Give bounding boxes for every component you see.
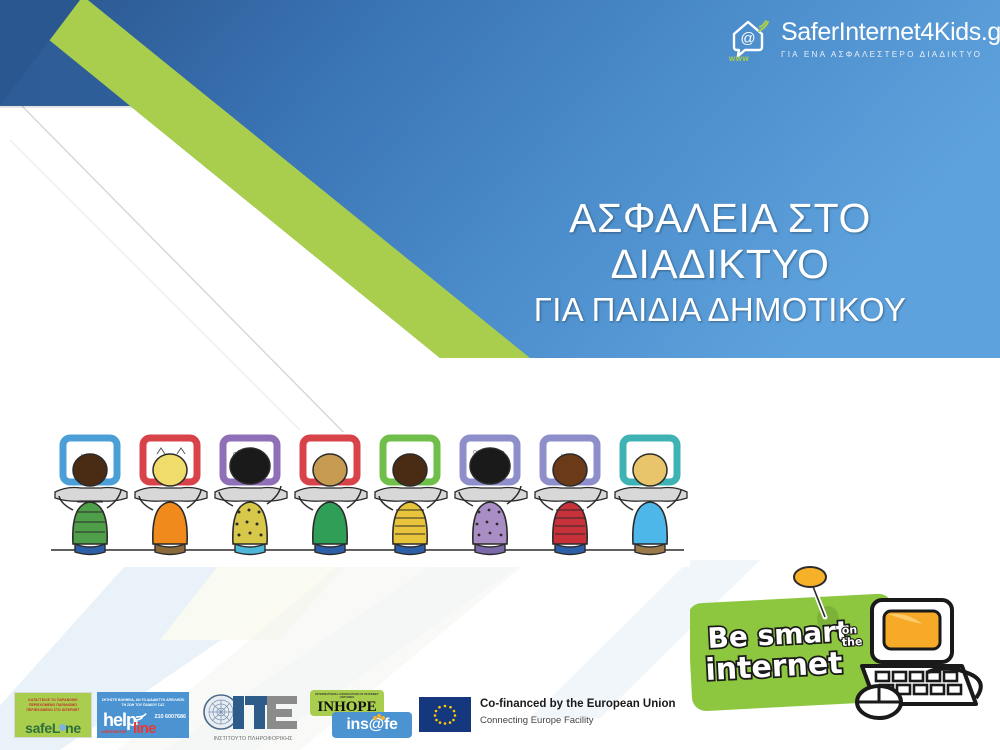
inhope-top-text: INTERNATIONAL ASSOCIATION OF INTERNET HO…	[310, 690, 384, 699]
brand-logo[interactable]: @ www SaferInternet4Kids.gr ΓΙΑ ΕΝΑ ΑΣΦΑ…	[727, 12, 985, 64]
safeline-word-a: safeL	[25, 720, 60, 736]
eu-flag-icon	[419, 697, 471, 732]
svg-text:the: the	[841, 635, 862, 649]
presentation-slide: @ www SaferInternet4Kids.gr ΓΙΑ ΕΝΑ ΑΣΦΑ…	[0, 0, 1000, 750]
insafe-logo[interactable]: ins@fe	[332, 712, 412, 738]
insafe-word-a: ins	[346, 716, 368, 734]
page-title: ΑΣΦΑΛΕΙΑ ΣΤΟ ΔΙΑΔΙΚΤΥΟ	[455, 196, 985, 288]
european-union-funding-notice: Co-financed by the European Union Connec…	[480, 698, 720, 726]
slide-title-block: ΑΣΦΑΛΕΙΑ ΣΤΟ ΔΙΑΔΙΚΤΥΟ ΓΙΑ ΠΑΙΔΙΑ ΔΗΜΟΤΙ…	[455, 196, 985, 329]
helpline-help-text: help	[103, 710, 136, 731]
header-left-triangle	[0, 0, 540, 110]
eu-funding-line1: Co-financed by the European Union	[480, 698, 720, 710]
helpline-line-text: line	[133, 720, 156, 737]
brand-tagline: ΓΙΑ ΕΝΑ ΑΣΦΑΛΕΣΤΕΡΟ ΔΙΑΔΙΚΤΥΟ	[781, 50, 1000, 59]
paw-icon	[372, 714, 386, 723]
safeline-word-b: ne	[65, 720, 81, 736]
children-at-computers-illustration: ♪ ⚘	[45, 432, 690, 567]
eu-funding-line2: Connecting Europe Facility	[480, 715, 720, 726]
svg-text:internet: internet	[705, 646, 844, 688]
svg-text:@: @	[740, 30, 755, 47]
brand-www-label: www	[729, 54, 749, 63]
page-subtitle: ΓΙΑ ΠΑΙΔΙΑ ΔΗΜΟΤΙΚΟΥ	[455, 292, 985, 329]
ite-caption: ΙΝΣΤΙΤΟΥΤΟ ΠΛΗΡΟΦΟΡΙΚΗΣ	[203, 736, 303, 742]
besmart-wordmark: Be smart on the internet	[705, 615, 863, 688]
helpline-phone: 210 6007686	[155, 714, 186, 720]
safeline-wordmark: safeLne	[15, 720, 91, 736]
helpline-top-text: ΖΗΤΗΣΤΕ ΒΟΗΘΕΙΑ, ΑΝ ΤΟ ΔΙΑΔΙΚΤΥΟ ΑΠΕΙΛΗΣ…	[97, 692, 189, 709]
helpline-wordmark: help 210 6007686 line saferinternet	[97, 709, 189, 735]
safeline-top-text: ΚΑΤΑΓΓΕΙΛΕ ΤΟ ΠΑΡΑΝΟΜΟ ΠΕΡΙΕΧΟΜΕΝΟ ΠΑΡΑΝ…	[15, 693, 91, 713]
footer-logo-strip: ΚΑΤΑΓΓΕΙΛΕ ΤΟ ΠΑΡΑΝΟΜΟ ΠΕΡΙΕΧΟΜΕΝΟ ΠΑΡΑΝ…	[0, 688, 1000, 750]
brand-name: SaferInternet4Kids.gr	[781, 20, 1000, 45]
helpline-subtext: saferinternet	[101, 729, 126, 734]
ite-logo[interactable]: ΙΝΣΤΙΤΟΥΤΟ ΠΛΗΡΟΦΟΡΙΚΗΣ	[203, 690, 303, 742]
helpline-logo[interactable]: ΖΗΤΗΣΤΕ ΒΟΗΘΕΙΑ, ΑΝ ΤΟ ΔΙΑΔΙΚΤΥΟ ΑΠΕΙΛΗΣ…	[97, 692, 189, 738]
safeline-logo[interactable]: ΚΑΤΑΓΓΕΙΛΕ ΤΟ ΠΑΡΑΝΟΜΟ ΠΕΡΙΕΧΟΜΕΝΟ ΠΑΡΑΝ…	[14, 692, 92, 738]
house-speech-bubble-wifi-icon: @ www	[727, 15, 773, 61]
